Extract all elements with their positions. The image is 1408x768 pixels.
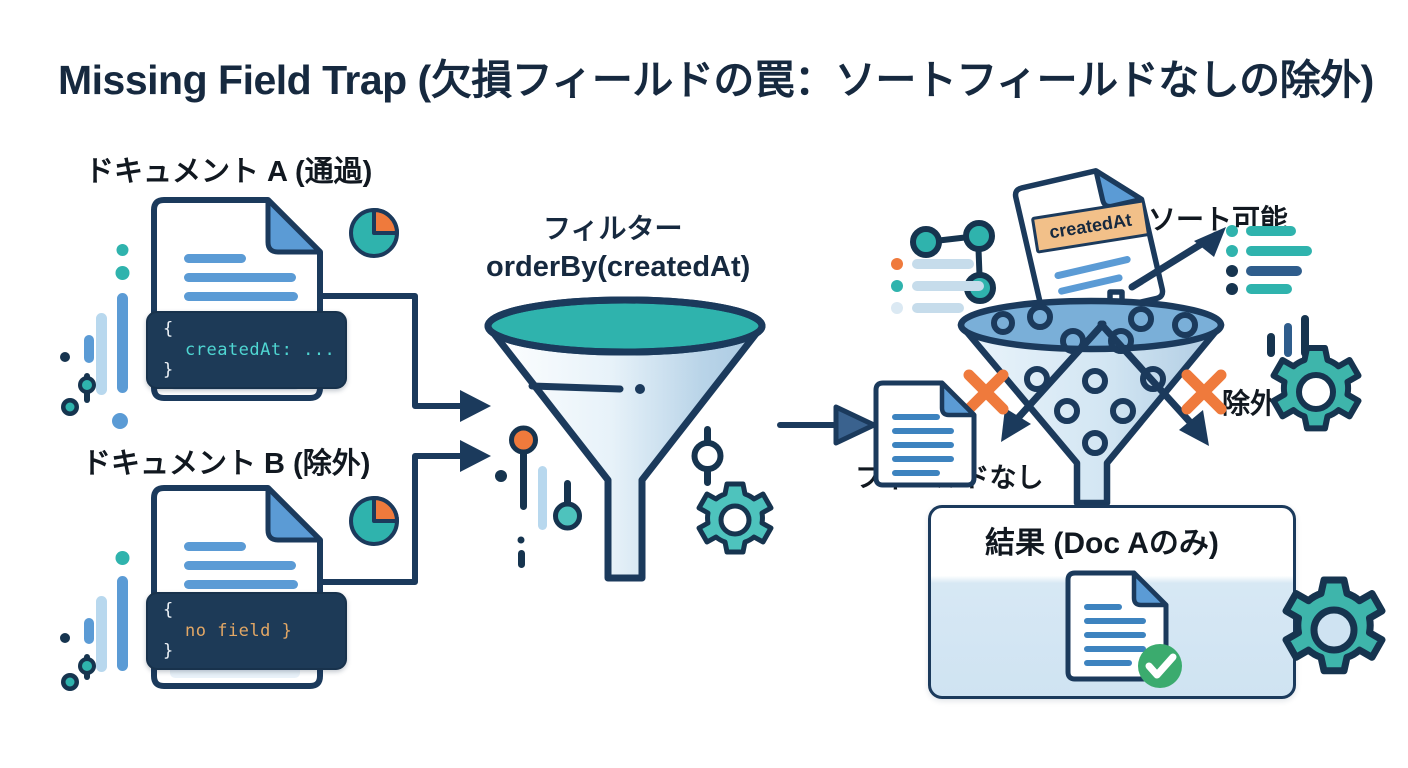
code-close-brace: } — [163, 360, 173, 380]
code-body-doc-b: no field } — [185, 621, 292, 641]
filter-title-label: フィルター — [543, 207, 682, 247]
gear-icon — [1278, 560, 1408, 700]
pie-chart-icon — [347, 206, 401, 260]
gear-icon — [1250, 310, 1380, 440]
result-document-icon — [1060, 570, 1190, 685]
rejected-document-icon — [868, 378, 988, 488]
code-close-brace: } — [163, 641, 173, 661]
slider-decoration-filter — [488, 430, 608, 570]
slider-decoration-a — [62, 225, 157, 395]
code-body-doc-a: createdAt: ... — [185, 340, 335, 360]
filter-expression-label: orderBy(createdAt) — [486, 251, 750, 284]
slider-decoration-b — [62, 520, 157, 680]
result-title: 結果 (Doc Aのみ) — [985, 518, 1219, 562]
code-open-brace: { — [163, 319, 173, 339]
x-mark-icon — [1180, 368, 1228, 416]
diagram-canvas: Missing Field Trap (欠損フィールドの罠：ソートフィールドなし… — [0, 0, 1408, 768]
check-circle-icon — [1138, 644, 1182, 688]
doc-a-label: ドキュメント A (通過) — [85, 148, 372, 190]
page-title: Missing Field Trap (欠損フィールドの罠：ソートフィールドなし… — [58, 46, 1378, 106]
gear-icon — [680, 420, 790, 580]
code-open-brace: { — [163, 600, 173, 620]
arrow-sortable-out — [1128, 225, 1248, 295]
